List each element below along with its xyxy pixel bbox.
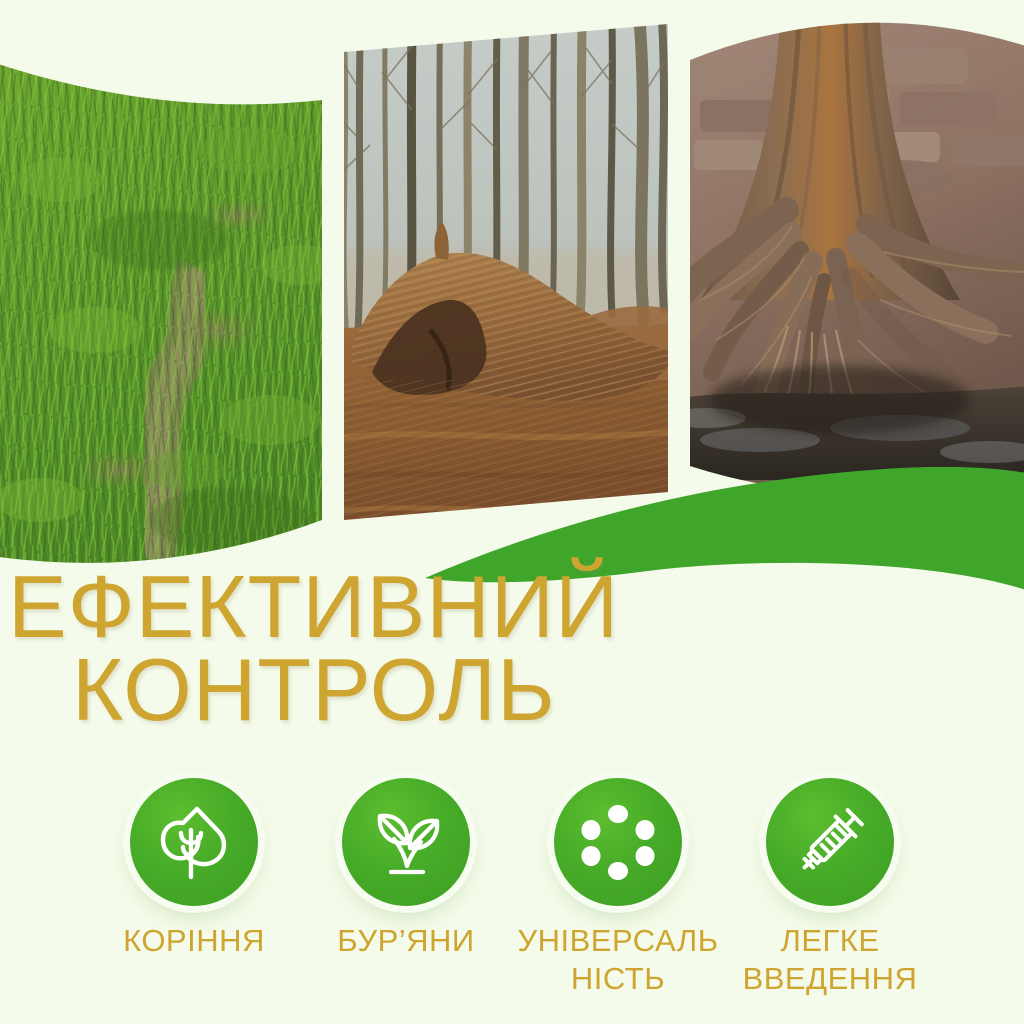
leaf-roots-icon	[157, 803, 231, 881]
syringe-icon	[790, 802, 870, 882]
feature-badge-weeds[interactable]	[342, 778, 470, 906]
feature-label-universal: УНІВЕРСАЛЬ НІСТЬ	[517, 922, 718, 998]
feature-label-roots: КОРІННЯ	[123, 922, 265, 960]
feature-badge-universal[interactable]	[554, 778, 682, 906]
tree-roots-photo	[666, 0, 1024, 490]
headline-line-1: ЕФЕКТИВНИЙ	[0, 566, 1024, 649]
feature-item-universal[interactable]: УНІВЕРСАЛЬ НІСТЬ	[512, 778, 724, 998]
headline-line-2: КОНТРОЛЬ	[0, 649, 1024, 732]
feature-list: КОРІННЯ БУР’ЯНИ	[0, 778, 1024, 1024]
page-title: ЕФЕКТИВНИЙ КОНТРОЛЬ	[0, 566, 1024, 731]
uprooted-tree-photo	[330, 10, 692, 550]
feature-badge-injection[interactable]	[766, 778, 894, 906]
feature-badge-roots[interactable]	[130, 778, 258, 906]
feature-item-roots[interactable]: КОРІННЯ	[88, 778, 300, 960]
dots-circle-icon	[580, 804, 656, 880]
feature-item-injection[interactable]: ЛЕГКЕ ВВЕДЕННЯ	[724, 778, 936, 998]
grass-field-photo	[0, 40, 340, 580]
photo-collage	[0, 0, 1024, 600]
feature-item-weeds[interactable]: БУР’ЯНИ	[300, 778, 512, 960]
feature-label-weeds: БУР’ЯНИ	[337, 922, 474, 960]
promo-banner: ЕФЕКТИВНИЙ КОНТРОЛЬ КОРІННЯ	[0, 0, 1024, 1024]
sprout-leaves-icon	[367, 806, 445, 878]
feature-label-injection: ЛЕГКЕ ВВЕДЕННЯ	[743, 922, 918, 998]
